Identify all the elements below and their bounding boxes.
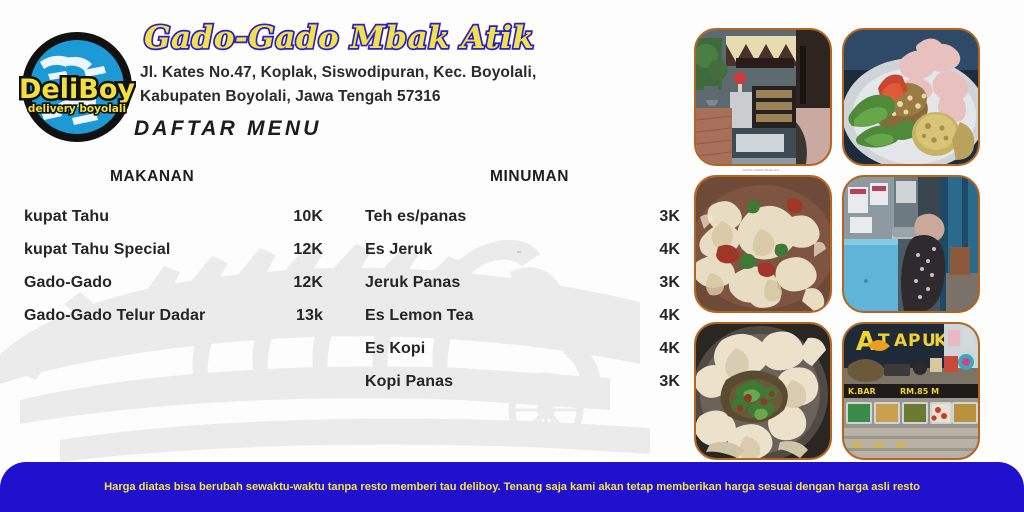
menu-row: Es Kopi 4K <box>345 340 690 358</box>
item-name: Es Lemon Tea <box>365 307 474 325</box>
svg-text:P: P <box>908 331 920 351</box>
menu-poster: DeliBoy delivery boyolali Gado-Gado Mbak… <box>0 0 1024 512</box>
photo-gado-gado-platter <box>694 322 832 460</box>
menu-row: Teh es/panas 3K <box>345 208 690 226</box>
stray-mark <box>517 251 521 253</box>
item-name: Es Kopi <box>365 340 425 358</box>
photo-warung-storefront <box>694 28 832 166</box>
item-price: 10K <box>277 208 345 226</box>
item-name: kupat Tahu Special <box>24 241 170 259</box>
item-name: kupat Tahu <box>24 208 109 226</box>
photo-food-stall-display: A T A P U K <box>842 322 980 460</box>
item-name: Gado-Gado Telur Dadar <box>24 307 205 325</box>
item-price: 12K <box>277 241 345 259</box>
logo-wordmark: DeliBoy <box>19 74 135 105</box>
menu-row: Es Lemon Tea 4K <box>345 307 690 325</box>
item-price: 4K <box>634 307 690 325</box>
item-price: 3K <box>634 373 690 391</box>
item-price: 3K <box>634 208 690 226</box>
svg-text:K.BAR: K.BAR <box>848 387 876 396</box>
item-price: 4K <box>634 241 690 259</box>
menu-heading: DAFTAR MENU <box>134 117 700 141</box>
item-name: Gado-Gado <box>24 274 112 292</box>
item-price: 12K <box>277 274 345 292</box>
menu-row: Gado-Gado Telur Dadar 13k <box>0 307 345 325</box>
header: Gado-Gado Mbak Atik Jl. Kates No.47, Kop… <box>140 22 700 141</box>
menu-row: Jeruk Panas 3K <box>345 274 690 292</box>
svg-text:A: A <box>894 331 908 351</box>
photo-grid: A T A P U K <box>694 28 976 460</box>
menu-row: kupat Tahu 10K <box>0 208 345 226</box>
photo-caption: GADO-GADO Mbak Atik <box>694 168 828 173</box>
logo-tagline: delivery boyolali <box>28 103 126 115</box>
address-line-1: Jl. Kates No.47, Koplak, Siswodipuran, K… <box>140 61 700 85</box>
menu-section: MAKANAN kupat Tahu 10K kupat Tahu Specia… <box>0 168 690 406</box>
menu-row: kupat Tahu Special 12K <box>0 241 345 259</box>
food-column-header: MAKANAN <box>0 168 345 186</box>
restaurant-title: Gado-Gado Mbak Atik <box>144 22 700 55</box>
food-column: MAKANAN kupat Tahu 10K kupat Tahu Specia… <box>0 168 345 406</box>
item-price: 13k <box>277 307 345 325</box>
deliboy-logo: DeliBoy delivery boyolali <box>18 28 136 146</box>
item-price: 3K <box>634 274 690 292</box>
drinks-column: MINUMAN Teh es/panas 3K Es Jeruk 4K Jeru… <box>345 168 690 406</box>
photo-kupat-tahu-bowl <box>694 175 832 313</box>
address-line-2: Kabupaten Boyolali, Jawa Tengah 57316 <box>140 85 700 109</box>
item-name: Teh es/panas <box>365 208 466 226</box>
disclaimer-text: Harga diatas bisa berubah sewaktu-waktu … <box>104 481 920 493</box>
item-name: Kopi Panas <box>365 373 453 391</box>
svg-text:RM.85 M: RM.85 M <box>900 387 939 396</box>
menu-row: Es Jeruk 4K <box>345 241 690 259</box>
item-name: Es Jeruk <box>365 241 433 259</box>
menu-row: Kopi Panas 3K <box>345 373 690 391</box>
drinks-column-header: MINUMAN <box>345 168 690 186</box>
item-price: 4K <box>634 340 690 358</box>
menu-row: Gado-Gado 12K <box>0 274 345 292</box>
item-name: Jeruk Panas <box>365 274 460 292</box>
photo-vendor-counter <box>842 175 980 313</box>
photo-gado-gado-plate <box>842 28 980 166</box>
disclaimer-banner: Harga diatas bisa berubah sewaktu-waktu … <box>0 462 1024 512</box>
